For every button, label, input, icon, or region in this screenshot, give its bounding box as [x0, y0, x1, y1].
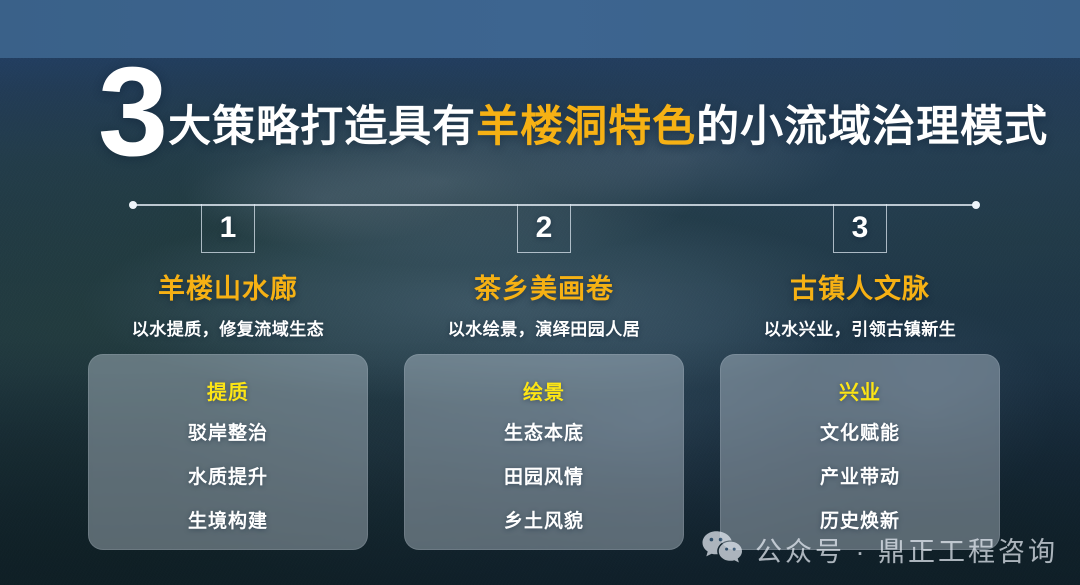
card-list-1: 驳岸整治 水质提升 生境构建 — [188, 418, 268, 533]
card-item: 乡土风貌 — [504, 506, 584, 533]
watermark: 公众号 · 鼎正工程咨询 — [701, 530, 1058, 569]
step-number-box-3: 3 — [833, 204, 887, 253]
page-title: 3 大策略打造具有羊楼洞特色的小流域治理模式 — [98, 56, 1046, 157]
headline-text: 大策略打造具有羊楼洞特色的小流域治理模式 — [168, 106, 1048, 149]
strategy-card-3: 兴业 文化赋能 产业带动 历史焕新 — [720, 354, 1000, 550]
watermark-text: 公众号 · 鼎正工程咨询 — [755, 530, 1058, 569]
strategy-title-1: 羊楼山水廊 — [158, 267, 298, 306]
card-title-1: 提质 — [207, 376, 249, 405]
card-item: 历史焕新 — [820, 506, 900, 533]
step-number-box-1: 1 — [201, 204, 255, 253]
strategy-column-3: 3 古镇人文脉 以水兴业，引领古镇新生 兴业 文化赋能 产业带动 历史焕新 — [720, 204, 1000, 550]
card-title-3: 兴业 — [839, 376, 881, 405]
card-list-2: 生态本底 田园风情 乡土风貌 — [504, 418, 584, 533]
headline-number: 3 — [98, 62, 166, 163]
headline-text-highlight: 羊楼洞特色 — [476, 103, 696, 151]
card-list-3: 文化赋能 产业带动 历史焕新 — [820, 418, 900, 533]
strategy-column-1: 1 羊楼山水廊 以水提质，修复流域生态 提质 驳岸整治 水质提升 生境构建 — [88, 204, 368, 550]
step-number-box-2: 2 — [517, 204, 571, 253]
card-item: 水质提升 — [188, 462, 268, 489]
wechat-icon — [701, 530, 743, 569]
card-item: 产业带动 — [820, 462, 900, 489]
card-item: 驳岸整治 — [188, 418, 268, 445]
strategy-title-3: 古镇人文脉 — [790, 267, 930, 306]
strategy-card-1: 提质 驳岸整治 水质提升 生境构建 — [88, 354, 368, 550]
strategy-card-2: 绘景 生态本底 田园风情 乡土风貌 — [404, 354, 684, 550]
strategy-subtitle-2: 以水绘景，演绎田园人居 — [448, 315, 641, 340]
headline-text-after: 的小流域治理模式 — [696, 103, 1048, 151]
strategy-subtitle-1: 以水提质，修复流域生态 — [132, 315, 325, 340]
card-item: 生态本底 — [504, 418, 584, 445]
card-item: 生境构建 — [188, 506, 268, 533]
strategy-columns: 1 羊楼山水廊 以水提质，修复流域生态 提质 驳岸整治 水质提升 生境构建 2 … — [88, 204, 992, 550]
slide-canvas: 3 大策略打造具有羊楼洞特色的小流域治理模式 1 羊楼山水廊 以水提质，修复流域… — [0, 0, 1080, 585]
strategy-title-2: 茶乡美画卷 — [474, 267, 614, 306]
strategy-column-2: 2 茶乡美画卷 以水绘景，演绎田园人居 绘景 生态本底 田园风情 乡土风貌 — [404, 204, 684, 550]
card-item: 文化赋能 — [820, 418, 900, 445]
card-title-2: 绘景 — [523, 376, 565, 405]
card-item: 田园风情 — [504, 462, 584, 489]
headline-text-before: 大策略打造具有 — [168, 103, 476, 151]
strategy-subtitle-3: 以水兴业，引领古镇新生 — [764, 315, 957, 340]
